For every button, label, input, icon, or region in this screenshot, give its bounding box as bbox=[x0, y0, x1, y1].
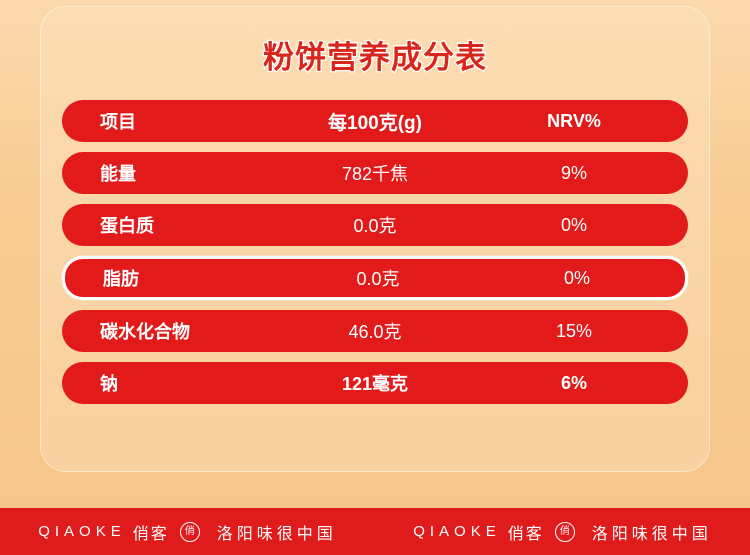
row-value: 121毫克 bbox=[262, 362, 488, 404]
brand-badge-icon: 俏 bbox=[555, 522, 575, 542]
header-cell-nrv: NRV% bbox=[514, 100, 634, 142]
table-header-row: 项目 每100克(g) NRV% bbox=[62, 100, 688, 142]
brand-badge-icon: 俏 bbox=[180, 522, 200, 542]
row-nrv: 15% bbox=[514, 310, 634, 352]
row-value: 782千焦 bbox=[262, 152, 488, 194]
row-label: 脂肪 bbox=[103, 259, 139, 297]
table-row[interactable]: 碳水化合物 46.0克 15% bbox=[62, 310, 688, 352]
nutrition-table: 项目 每100克(g) NRV% 能量 782千焦 9% 蛋白质 0.0克 0%… bbox=[62, 100, 688, 414]
row-value: 46.0克 bbox=[262, 310, 488, 352]
row-nrv: 6% bbox=[514, 362, 634, 404]
row-value: 0.0克 bbox=[265, 259, 491, 297]
row-nrv: 0% bbox=[514, 204, 634, 246]
brand-footer-banner: QIAOKE 俏客 俏 洛阳味很中国 QIAOKE 俏客 俏 洛阳味很中国 bbox=[0, 508, 750, 555]
row-label: 钠 bbox=[100, 362, 118, 404]
row-nrv: 9% bbox=[514, 152, 634, 194]
brand-chinese-text: 俏客 bbox=[133, 520, 169, 544]
brand-latin-text: QIAOKE bbox=[413, 523, 501, 540]
brand-chinese-text: 俏客 bbox=[508, 520, 544, 544]
header-cell-item: 项目 bbox=[100, 100, 136, 142]
row-label: 蛋白质 bbox=[100, 204, 154, 246]
brand-slogan: 洛阳味很中国 bbox=[592, 520, 712, 544]
table-row[interactable]: 能量 782千焦 9% bbox=[62, 152, 688, 194]
row-label: 能量 bbox=[100, 152, 136, 194]
brand-unit: QIAOKE 俏客 俏 洛阳味很中国 bbox=[0, 520, 375, 544]
table-row-highlighted[interactable]: 脂肪 0.0克 0% bbox=[62, 256, 688, 300]
table-row[interactable]: 钠 121毫克 6% bbox=[62, 362, 688, 404]
row-label: 碳水化合物 bbox=[100, 310, 190, 352]
brand-slogan: 洛阳味很中国 bbox=[217, 520, 337, 544]
header-cell-per-100g: 每100克(g) bbox=[262, 100, 488, 142]
row-value: 0.0克 bbox=[262, 204, 488, 246]
brand-unit: QIAOKE 俏客 俏 洛阳味很中国 bbox=[375, 520, 750, 544]
table-row[interactable]: 蛋白质 0.0克 0% bbox=[62, 204, 688, 246]
row-nrv: 0% bbox=[517, 259, 637, 297]
nutrition-facts-page: 粉饼营养成分表 项目 每100克(g) NRV% 能量 782千焦 9% 蛋白质… bbox=[0, 0, 750, 555]
brand-latin-text: QIAOKE bbox=[38, 523, 126, 540]
page-title: 粉饼营养成分表 bbox=[0, 32, 750, 77]
